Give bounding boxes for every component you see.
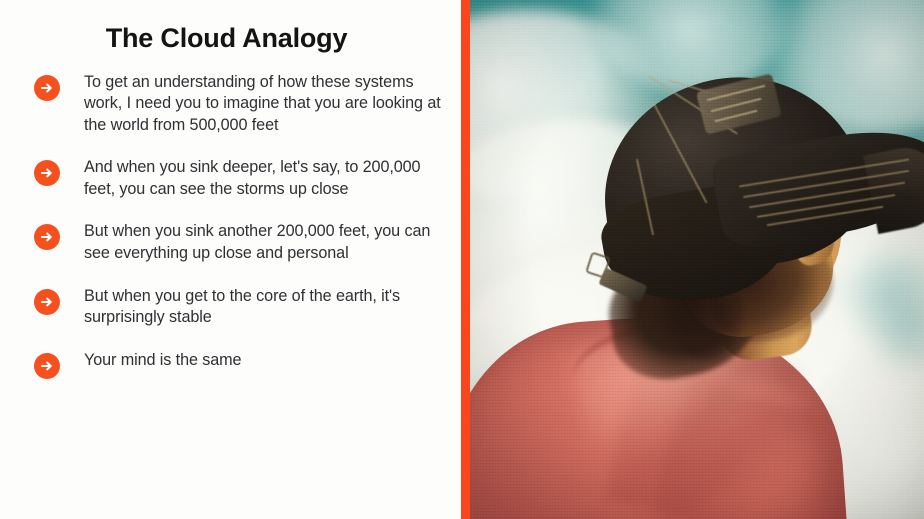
list-item: And when you sink deeper, let's say, to … xyxy=(34,157,445,200)
list-item-text: And when you sink deeper, let's say, to … xyxy=(84,157,445,200)
person-figure xyxy=(470,0,924,519)
list-item: But when you sink another 200,000 feet, … xyxy=(34,221,445,264)
list-item: But when you get to the core of the eart… xyxy=(34,286,445,329)
list-item-text: Your mind is the same xyxy=(84,350,445,372)
list-item-text: But when you sink another 200,000 feet, … xyxy=(84,221,445,264)
list-item: To get an understanding of how these sys… xyxy=(34,72,445,137)
slide-root: The Cloud Analogy To get an understandin… xyxy=(0,0,924,519)
arrow-right-circle-icon xyxy=(34,353,60,379)
list-item-text: But when you get to the core of the eart… xyxy=(84,286,445,329)
arrow-right-circle-icon xyxy=(34,75,60,101)
arrow-right-circle-icon xyxy=(34,224,60,250)
arrow-right-circle-icon xyxy=(34,160,60,186)
list-item-text: To get an understanding of how these sys… xyxy=(84,72,445,137)
photo-panel xyxy=(470,0,924,519)
list-item: Your mind is the same xyxy=(34,350,445,379)
arrow-right-circle-icon xyxy=(34,289,60,315)
photo-image xyxy=(470,0,924,519)
page-title: The Cloud Analogy xyxy=(0,24,461,54)
accent-divider-bar xyxy=(461,0,470,519)
left-content-panel: The Cloud Analogy To get an understandin… xyxy=(0,0,461,519)
bullet-list: To get an understanding of how these sys… xyxy=(0,72,461,379)
